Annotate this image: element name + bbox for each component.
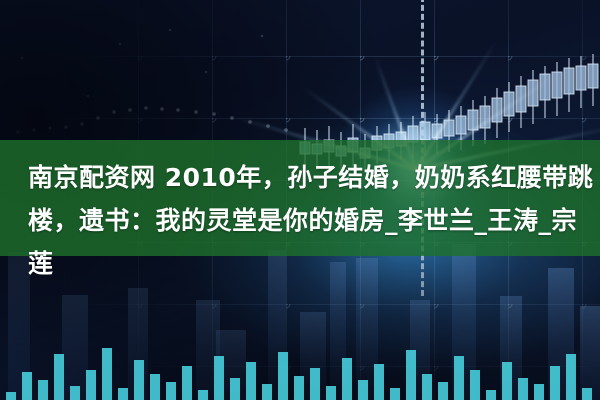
stock-chart-banner-image: 南京配资网 2010年，孙子结婚，奶奶系红腰带跳楼，遗书：我的灵堂是你的婚房_李… [0,0,600,400]
page-title: 南京配资网 2010年，孙子结婚，奶奶系红腰带跳楼，遗书：我的灵堂是你的婚房_李… [0,140,600,280]
